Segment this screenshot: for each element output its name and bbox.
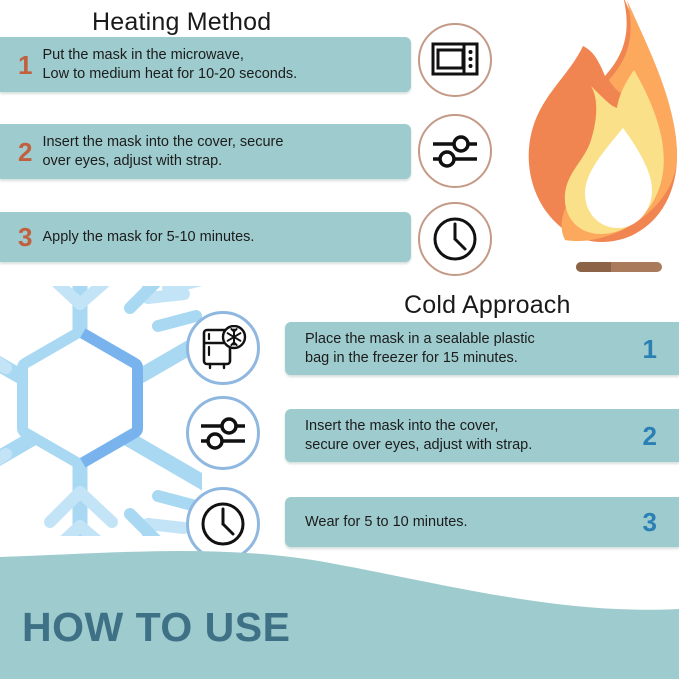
heating-step-2-line1: Insert the mask into the cover, secure [42, 134, 283, 150]
clock-icon [418, 202, 492, 276]
cold-step-2-text: Insert the mask into the cover, secure o… [305, 417, 633, 455]
heating-step-2-line2: over eyes, adjust with strap. [42, 153, 222, 169]
heating-step-1-line2: Low to medium heat for 10-20 seconds. [42, 66, 297, 82]
flame-illustration [505, 0, 679, 284]
heating-step-2-text: Insert the mask into the cover, secure o… [42, 133, 411, 171]
cold-step-3-number: 3 [643, 509, 657, 535]
sliders-icon [186, 396, 260, 470]
cold-step-3-text: Wear for 5 to 10 minutes. [305, 513, 633, 532]
cold-step-1-text: Place the mask in a sealable plastic bag… [305, 330, 633, 368]
cold-step-2-line1: Insert the mask into the cover, [305, 418, 498, 434]
cold-step-1-bar: Place the mask in a sealable plastic bag… [285, 322, 679, 375]
heating-method-title: Heating Method [92, 8, 271, 37]
cold-step-2-bar: Insert the mask into the cover, secure o… [285, 409, 679, 462]
cold-step-1-number: 1 [643, 336, 657, 362]
cold-step-1-line2: bag in the freezer for 15 minutes. [305, 350, 518, 366]
heating-step-3-number: 3 [18, 224, 32, 250]
cold-step-2-line2: secure over eyes, adjust with strap. [305, 437, 532, 453]
snowflake-illustration [0, 286, 202, 536]
heating-step-2-bar: 2 Insert the mask into the cover, secure… [0, 124, 411, 179]
heating-step-1-line1: Put the mask in the microwave, [42, 47, 243, 63]
heating-step-1-bar: 1 Put the mask in the microwave, Low to … [0, 37, 411, 92]
sliders-icon [418, 114, 492, 188]
heating-step-1-text: Put the mask in the microwave, Low to me… [42, 46, 411, 84]
microwave-icon [418, 23, 492, 97]
cold-step-2-number: 2 [643, 423, 657, 449]
heating-step-3-bar: 3 Apply the mask for 5-10 minutes. [0, 212, 411, 262]
cold-step-3-bar: Wear for 5 to 10 minutes. 3 [285, 497, 679, 547]
how-to-use-poster: Heating Method 1 Put the mask in the mic… [0, 0, 679, 679]
cold-approach-title: Cold Approach [404, 291, 571, 320]
heating-step-1-number: 1 [18, 52, 32, 78]
heating-step-2-number: 2 [18, 139, 32, 165]
footer-title: HOW TO USE [22, 604, 290, 651]
freezer-icon [186, 311, 260, 385]
cold-step-1-line1: Place the mask in a sealable plastic [305, 331, 535, 347]
heating-step-3-text: Apply the mask for 5-10 minutes. [42, 228, 411, 247]
